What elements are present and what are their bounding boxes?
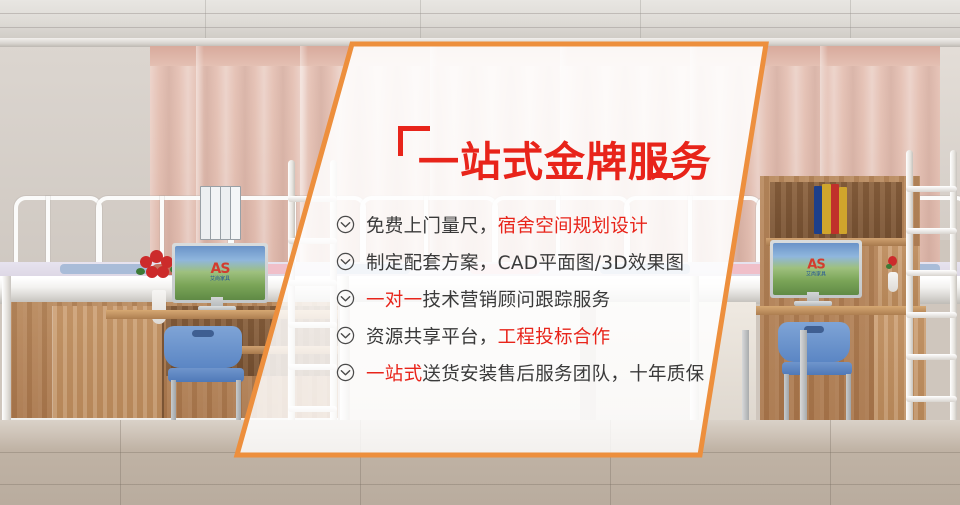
feature-text-plain: 技术营销顾问跟踪服务 [422, 290, 610, 311]
feature-text-plain: 送货安装售后服务团队，十年质保 [422, 364, 704, 385]
check-circle-icon [336, 363, 355, 382]
feature-text: 制定配套方案，CAD平面图/3D效果图 [366, 249, 684, 275]
title-block: 一站式金牌服务 [398, 126, 673, 184]
feature-row: 一站式送货安装售后服务团队，十年质保 [336, 354, 756, 391]
promo-banner: AS 艾尚家具 [0, 0, 960, 505]
check-circle-icon [336, 252, 355, 271]
feature-text-plain: 资源共享平台， [366, 327, 498, 348]
feature-list: 免费上门量尺，宿舍空间规划设计制定配套方案，CAD平面图/3D效果图一对一技术营… [336, 206, 756, 391]
check-circle-icon [336, 215, 355, 234]
banner-content: 一站式金牌服务 免费上门量尺，宿舍空间规划设计制定配套方案，CAD平面图/3D效… [0, 0, 960, 505]
feature-text-highlight: 一站式 [366, 364, 422, 385]
feature-text-highlight: 工程投标合作 [498, 327, 611, 348]
feature-text: 一站式送货安装售后服务团队，十年质保 [366, 360, 704, 386]
check-circle-icon [336, 326, 355, 345]
feature-row: 一对一技术营销顾问跟踪服务 [336, 280, 756, 317]
feature-text-highlight: 宿舍空间规划设计 [498, 216, 648, 237]
feature-text: 一对一技术营销顾问跟踪服务 [366, 286, 610, 312]
feature-text: 资源共享平台，工程投标合作 [366, 323, 610, 349]
banner-title: 一站式金牌服务 [418, 128, 712, 188]
feature-row: 免费上门量尺，宿舍空间规划设计 [336, 206, 756, 243]
feature-text: 免费上门量尺，宿舍空间规划设计 [366, 212, 648, 238]
feature-text-plain: 制定配套方案，CAD平面图/3D效果图 [366, 253, 684, 274]
check-circle-icon [336, 289, 355, 308]
feature-text-highlight: 一对一 [366, 290, 422, 311]
feature-row: 资源共享平台，工程投标合作 [336, 317, 756, 354]
bracket-top-left-vertical [398, 126, 403, 156]
feature-text-plain: 免费上门量尺， [366, 216, 498, 237]
feature-row: 制定配套方案，CAD平面图/3D效果图 [336, 243, 756, 280]
